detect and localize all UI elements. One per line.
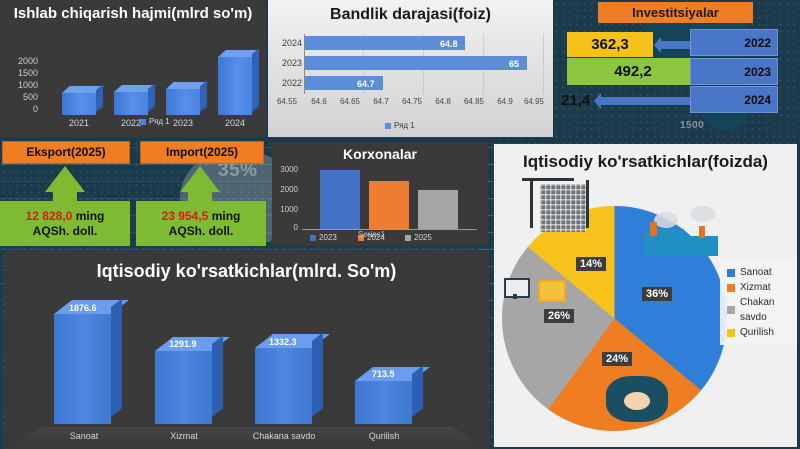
bar-front-face <box>114 92 148 115</box>
production-y-tick: 500 <box>8 92 38 102</box>
import-up-arrow-head <box>180 166 220 192</box>
bar-side-face <box>412 365 423 417</box>
production-bar <box>166 89 200 115</box>
employment-chart-legend: Ряд 1 <box>385 121 415 130</box>
production-bar <box>218 57 252 115</box>
indicators-bar-sanoat <box>54 314 111 424</box>
enterprises-y-tick: 3000 <box>272 165 298 174</box>
pie-slice-label-xizmat: 24% <box>602 352 632 366</box>
import-unit-2: AQSh. doll. <box>169 224 234 239</box>
enterprises-series-label: Series1 <box>358 230 385 239</box>
enterprises-chart-title: Korxonalar <box>272 146 488 162</box>
import-header: Import(2025) <box>140 141 264 164</box>
bar-side-face <box>312 332 323 417</box>
indicators-bar-category: Xizmat <box>144 431 224 441</box>
employment-bar <box>305 56 527 70</box>
export-value-box: 12 828,0 ming AQSh. doll. <box>0 201 130 246</box>
indicators-pie-legend: Sanoat Xizmat Chakan savdo Qurilish <box>720 260 797 345</box>
indicators-bar-value: 1876.6 <box>69 303 97 313</box>
indicators-bar-value: 1332.3 <box>269 337 297 347</box>
trade-panel: Eksport(2025) 12 828,0 ming AQSh. doll. … <box>0 137 266 250</box>
legend-label: Xizmat <box>740 280 771 295</box>
indicators-bar-xizmat <box>155 351 212 424</box>
pie-legend-row: Qurilish <box>727 325 795 340</box>
bar-side-face <box>96 85 103 112</box>
employment-bar-value: 65 <box>509 59 519 69</box>
legend-swatch <box>310 235 316 241</box>
indicators-bar-title: Iqtisodiy ko'rsatkichlar(mlrd. So'm) <box>4 261 489 282</box>
import-amount: 23 954,5 <box>162 209 209 223</box>
bar-side-face <box>111 298 122 417</box>
investments-year-2023: 2023 <box>690 58 778 85</box>
legend-label: Ряд 1 <box>149 117 170 126</box>
enterprises-legend-2025: 2025 <box>405 233 432 242</box>
employment-x-tick: 65 <box>546 97 553 106</box>
bar-front-face <box>166 89 200 115</box>
production-bar <box>62 93 96 115</box>
pie-legend-row: Sanoat <box>727 265 795 280</box>
pie-legend-row: Chakan savdo <box>727 295 795 325</box>
pie-slice-label-qurilish: 14% <box>576 257 606 271</box>
legend-swatch <box>405 235 411 241</box>
enterprises-bar-2025 <box>418 190 458 229</box>
enterprises-y-tick: 0 <box>272 223 298 232</box>
enterprises-y-tick: 1000 <box>272 205 298 214</box>
enterprises-bar-2023 <box>320 170 360 229</box>
monitor-stand-icon <box>513 294 517 299</box>
employment-chart-title: Bandlik darajasi(foiz) <box>268 6 553 24</box>
indicators-pie-title: Iqtisodiy ko'rsatkichlar(foizda) <box>494 152 797 172</box>
bar-front-face <box>218 57 252 115</box>
enterprises-bar-2024 <box>369 181 409 229</box>
production-chart-legend: Ряд 1 <box>140 117 170 126</box>
legend-swatch <box>727 306 735 314</box>
bar-side-face <box>148 84 155 112</box>
employment-bar-value: 64.7 <box>357 79 375 89</box>
production-y-tick: 1500 <box>8 68 38 78</box>
factory-chimney-icon-2 <box>699 226 705 238</box>
bar-front-face <box>155 351 212 424</box>
smoke-icon <box>690 206 716 222</box>
indicators-bar-value: 713.5 <box>372 369 395 379</box>
employment-bar-value: 64.8 <box>440 39 458 49</box>
import-value-box: 23 954,5 ming AQSh. doll. <box>136 201 266 246</box>
employment-category-label: 2024 <box>272 38 302 48</box>
investments-year-2024: 2024 <box>690 86 778 113</box>
export-unit-1: ming <box>76 209 105 223</box>
investments-value-2023: 492,2 <box>567 58 699 85</box>
production-y-tick: 1000 <box>8 80 38 90</box>
crane-right-icon <box>586 180 589 228</box>
indicators-bar-panel: Iqtisodiy ko'rsatkichlar(mlrd. So'm) 187… <box>4 251 489 449</box>
bar-side-face <box>212 335 223 417</box>
employment-gridline <box>543 34 544 94</box>
indicators-bar-category: Sanoat <box>44 431 124 441</box>
legend-label: Ряд 1 <box>394 121 415 130</box>
shopping-cart-icon <box>538 280 566 302</box>
export-unit-2: AQSh. doll. <box>33 224 98 239</box>
crane-arm-icon <box>522 178 574 181</box>
indicators-bar-value: 1291.9 <box>169 339 197 349</box>
legend-label: 2025 <box>414 233 432 242</box>
legend-label: 2023 <box>319 233 337 242</box>
legend-swatch <box>727 329 735 337</box>
factory-icon-2 <box>684 236 718 256</box>
enterprises-legend-2023: 2023 <box>310 233 337 242</box>
employment-category-label: 2023 <box>272 58 302 68</box>
production-bar <box>114 92 148 115</box>
employment-category-label: 2022 <box>272 78 302 88</box>
legend-label: Qurilish <box>740 325 774 340</box>
bar-side-face <box>200 81 207 112</box>
handshake-icon <box>624 392 650 410</box>
crane-icon <box>530 178 533 228</box>
investments-arrow-2024 <box>601 97 693 105</box>
export-amount: 12 828,0 <box>26 209 73 223</box>
production-chart-panel: Ishlab chiqarish hajmi(mlrd so'm) 2000 1… <box>0 0 266 137</box>
enterprises-chart-panel: Korxonalar 3000 2000 1000 0 2023 2024 20… <box>272 142 488 246</box>
production-y-tick: 0 <box>8 104 38 114</box>
bar-front-face <box>355 381 412 424</box>
production-x-label: 2021 <box>56 118 102 128</box>
indicators-bar-category: Chakana savdo <box>229 431 339 441</box>
investments-title: Investitsiyalar <box>598 2 753 23</box>
bar-front-face <box>54 314 111 424</box>
production-x-label: 2024 <box>212 118 258 128</box>
investments-panel: Investitsiyalar 362,3 2022 492,2 2023 21… <box>553 0 800 137</box>
investments-year-2022: 2022 <box>690 29 778 56</box>
building-icon <box>540 184 586 232</box>
import-unit-1: ming <box>212 209 241 223</box>
employment-chart-panel: Bandlik darajasi(foiz) 2024 64.8 2023 65… <box>268 0 553 137</box>
legend-swatch <box>385 123 391 129</box>
export-header: Eksport(2025) <box>2 141 130 164</box>
indicators-pie-panel: Iqtisodiy ko'rsatkichlar(foizda) 36% 24%… <box>494 144 797 447</box>
legend-swatch <box>727 269 735 277</box>
indicators-bar-qurilish <box>355 381 412 424</box>
export-value-line: 12 828,0 ming <box>26 209 105 224</box>
legend-swatch <box>140 119 146 125</box>
production-chart-title: Ishlab chiqarish hajmi(mlrd so'm) <box>0 4 266 23</box>
bar-front-face <box>255 348 312 424</box>
enterprises-axis-baseline <box>302 229 477 230</box>
legend-label: Sanoat <box>740 265 772 280</box>
dashboard-canvas: 35% 1500 Ishlab chiqarish hajmi(mlrd so'… <box>0 0 800 449</box>
export-up-arrow-head <box>45 166 85 192</box>
enterprises-y-tick: 2000 <box>272 185 298 194</box>
monitor-icon <box>504 278 530 298</box>
indicators-bar-chakana <box>255 348 312 424</box>
smoke-icon <box>654 212 678 228</box>
pie-slice-label-chakan: 26% <box>544 309 574 323</box>
legend-label: Chakan savdo <box>740 295 795 325</box>
indicators-bar-category: Qurilish <box>344 431 424 441</box>
pie-legend-row: Xizmat <box>727 280 795 295</box>
bar-front-face <box>62 93 96 115</box>
import-value-line: 23 954,5 ming <box>162 209 241 224</box>
factory-chimney-icon <box>650 222 657 236</box>
bar-side-face <box>252 49 259 112</box>
pie-slice-label-sanoat: 36% <box>642 287 672 301</box>
investments-value-2022: 362,3 <box>567 32 653 57</box>
legend-swatch <box>727 284 735 292</box>
production-y-tick: 2000 <box>8 56 38 66</box>
